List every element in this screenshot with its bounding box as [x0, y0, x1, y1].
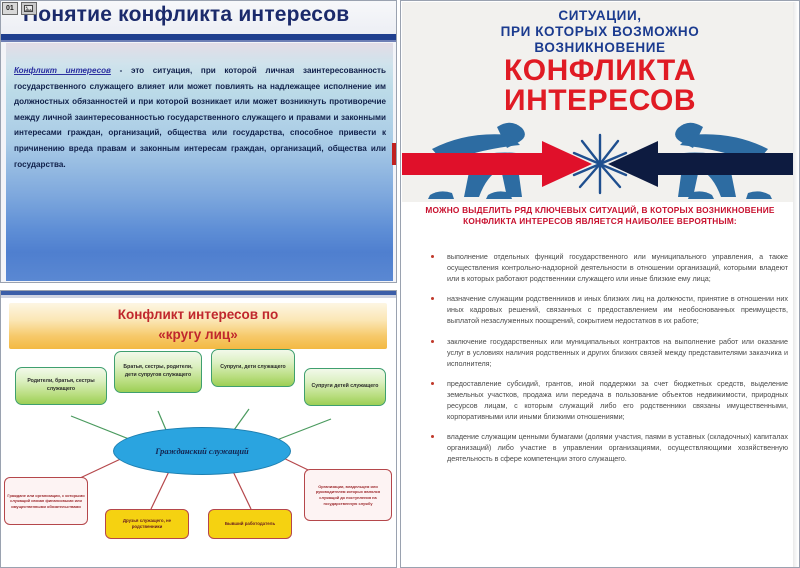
definition-term: Конфликт интересов: [14, 66, 111, 75]
red-box-2[interactable]: Организации, владельцем или руководителе…: [304, 469, 392, 521]
slide-edge-marker: [392, 143, 396, 165]
page-number-badge: 01: [2, 2, 18, 15]
poster-head-big1: КОНФЛИКТА: [402, 54, 798, 88]
poster-head-line1: СИТУАЦИИ,: [402, 8, 798, 23]
poster-head-line3: ВОЗНИКНОВЕНИЕ: [402, 40, 798, 55]
list-item: назначение служащим родственников и иных…: [423, 293, 788, 326]
poster-right-edge: [793, 2, 798, 568]
bullet-text: заключение государственных или муниципал…: [447, 336, 788, 369]
definition-description: - это ситуация, при которой личная заинт…: [14, 66, 386, 169]
image-thumbnail-icon[interactable]: [21, 2, 37, 15]
bullet-text: владение служащим ценными бумагами (доля…: [447, 431, 788, 464]
poster-bullet-list: выполнение отдельных функций государстве…: [423, 251, 788, 474]
center-node-civil-servant[interactable]: Гражданский служащий: [113, 427, 291, 475]
green-box-3[interactable]: Супруги, дети служащего: [211, 349, 295, 387]
green-box-4[interactable]: Супруги детей служащего: [304, 368, 386, 406]
poster-red-heading: МОЖНО ВЫДЕЛИТЬ РЯД КЛЮЧЕВЫХ СИТУАЦИЙ, В …: [409, 205, 791, 228]
presentation-stage: 01 Понятие конфликта интересов Конфликт …: [0, 0, 800, 568]
bullet-text: назначение служащим родственников и иных…: [447, 293, 788, 326]
list-item: предоставление субсидий, грантов, иной п…: [423, 378, 788, 422]
poster-head-line2: ПРИ КОТОРЫХ ВОЗМОЖНО: [402, 24, 798, 39]
title-divider-secondary: [1, 40, 396, 42]
bullet-text: выполнение отдельных функций государстве…: [447, 251, 788, 284]
list-item: заключение государственных или муниципал…: [423, 336, 788, 369]
green-box-1[interactable]: Родители, братья, сестры служащего: [15, 367, 107, 405]
bullet-text: предоставление субсидий, грантов, иной п…: [447, 378, 788, 422]
slide-circle-of-persons[interactable]: Конфликт интересов по «кругу лиц»: [0, 290, 397, 568]
yellow-box-2[interactable]: Бывший работодатель: [208, 509, 292, 539]
definition-text: Конфликт интересов - это ситуация, при к…: [14, 63, 386, 172]
conflict-illustration-icon: [402, 113, 798, 201]
green-box-2[interactable]: Братья, сестры, родители, дети супругов …: [114, 351, 202, 393]
poster-panel[interactable]: СИТУАЦИИ, ПРИ КОТОРЫХ ВОЗМОЖНО ВОЗНИКНОВ…: [400, 0, 800, 568]
page-title: Понятие конфликта интересов: [23, 3, 383, 33]
red-box-1[interactable]: Граждане или организации, с которыми слу…: [4, 477, 88, 525]
slide-corner-chrome: 01: [2, 2, 37, 15]
definition-body: Конфликт интересов - это ситуация, при к…: [6, 43, 393, 281]
yellow-box-1[interactable]: Друзья служащего, не родственники: [105, 509, 189, 539]
left-column: Понятие конфликта интересов Конфликт инт…: [0, 0, 397, 568]
slide-definition[interactable]: Понятие конфликта интересов Конфликт инт…: [0, 0, 397, 283]
list-item: выполнение отдельных функций государстве…: [423, 251, 788, 284]
list-item: владение служащим ценными бумагами (доля…: [423, 431, 788, 464]
